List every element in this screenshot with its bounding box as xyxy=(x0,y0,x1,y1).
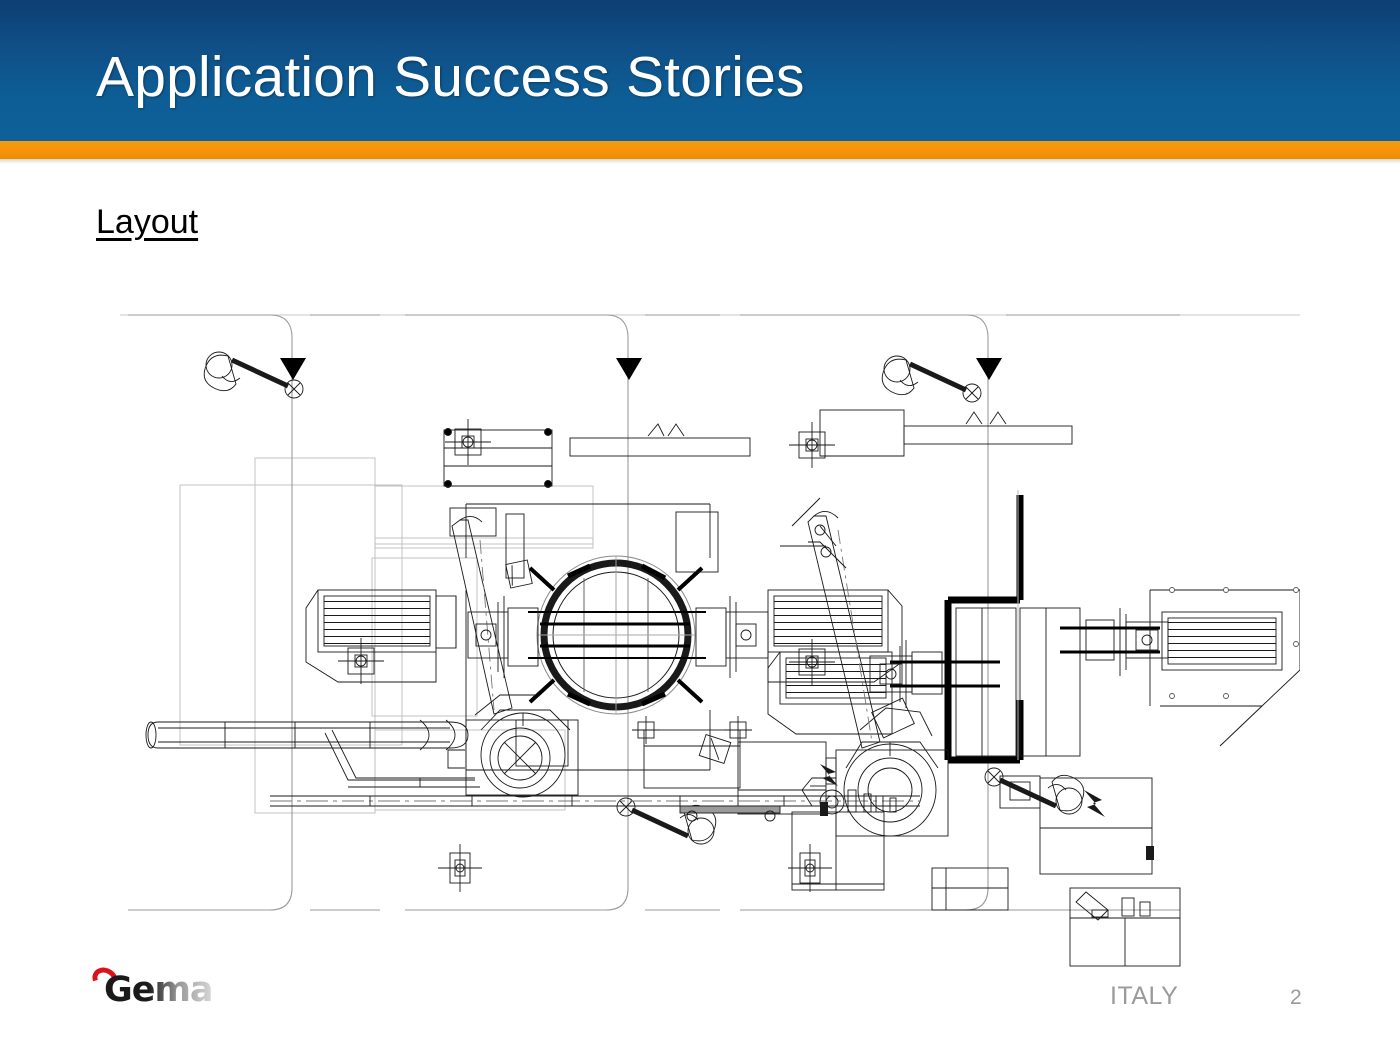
layout-technical-drawing xyxy=(120,290,1300,970)
page-title: Application Success Stories xyxy=(96,44,805,110)
slide-page-number: 2 xyxy=(1290,986,1302,1010)
slide-canvas: Application Success Stories Layout xyxy=(0,0,1400,1050)
flow-direction-arrow xyxy=(280,358,1002,380)
footer-country: ITALY xyxy=(1110,982,1178,1011)
section-heading: Layout xyxy=(96,203,198,242)
circular-booth xyxy=(528,556,706,714)
header-shadow xyxy=(0,159,1400,164)
rectangular-booth xyxy=(948,490,1080,760)
header-accent-stripe xyxy=(0,141,1400,159)
gema-logo: Gema xyxy=(88,968,218,1016)
logo-fade-overlay xyxy=(148,978,222,1014)
